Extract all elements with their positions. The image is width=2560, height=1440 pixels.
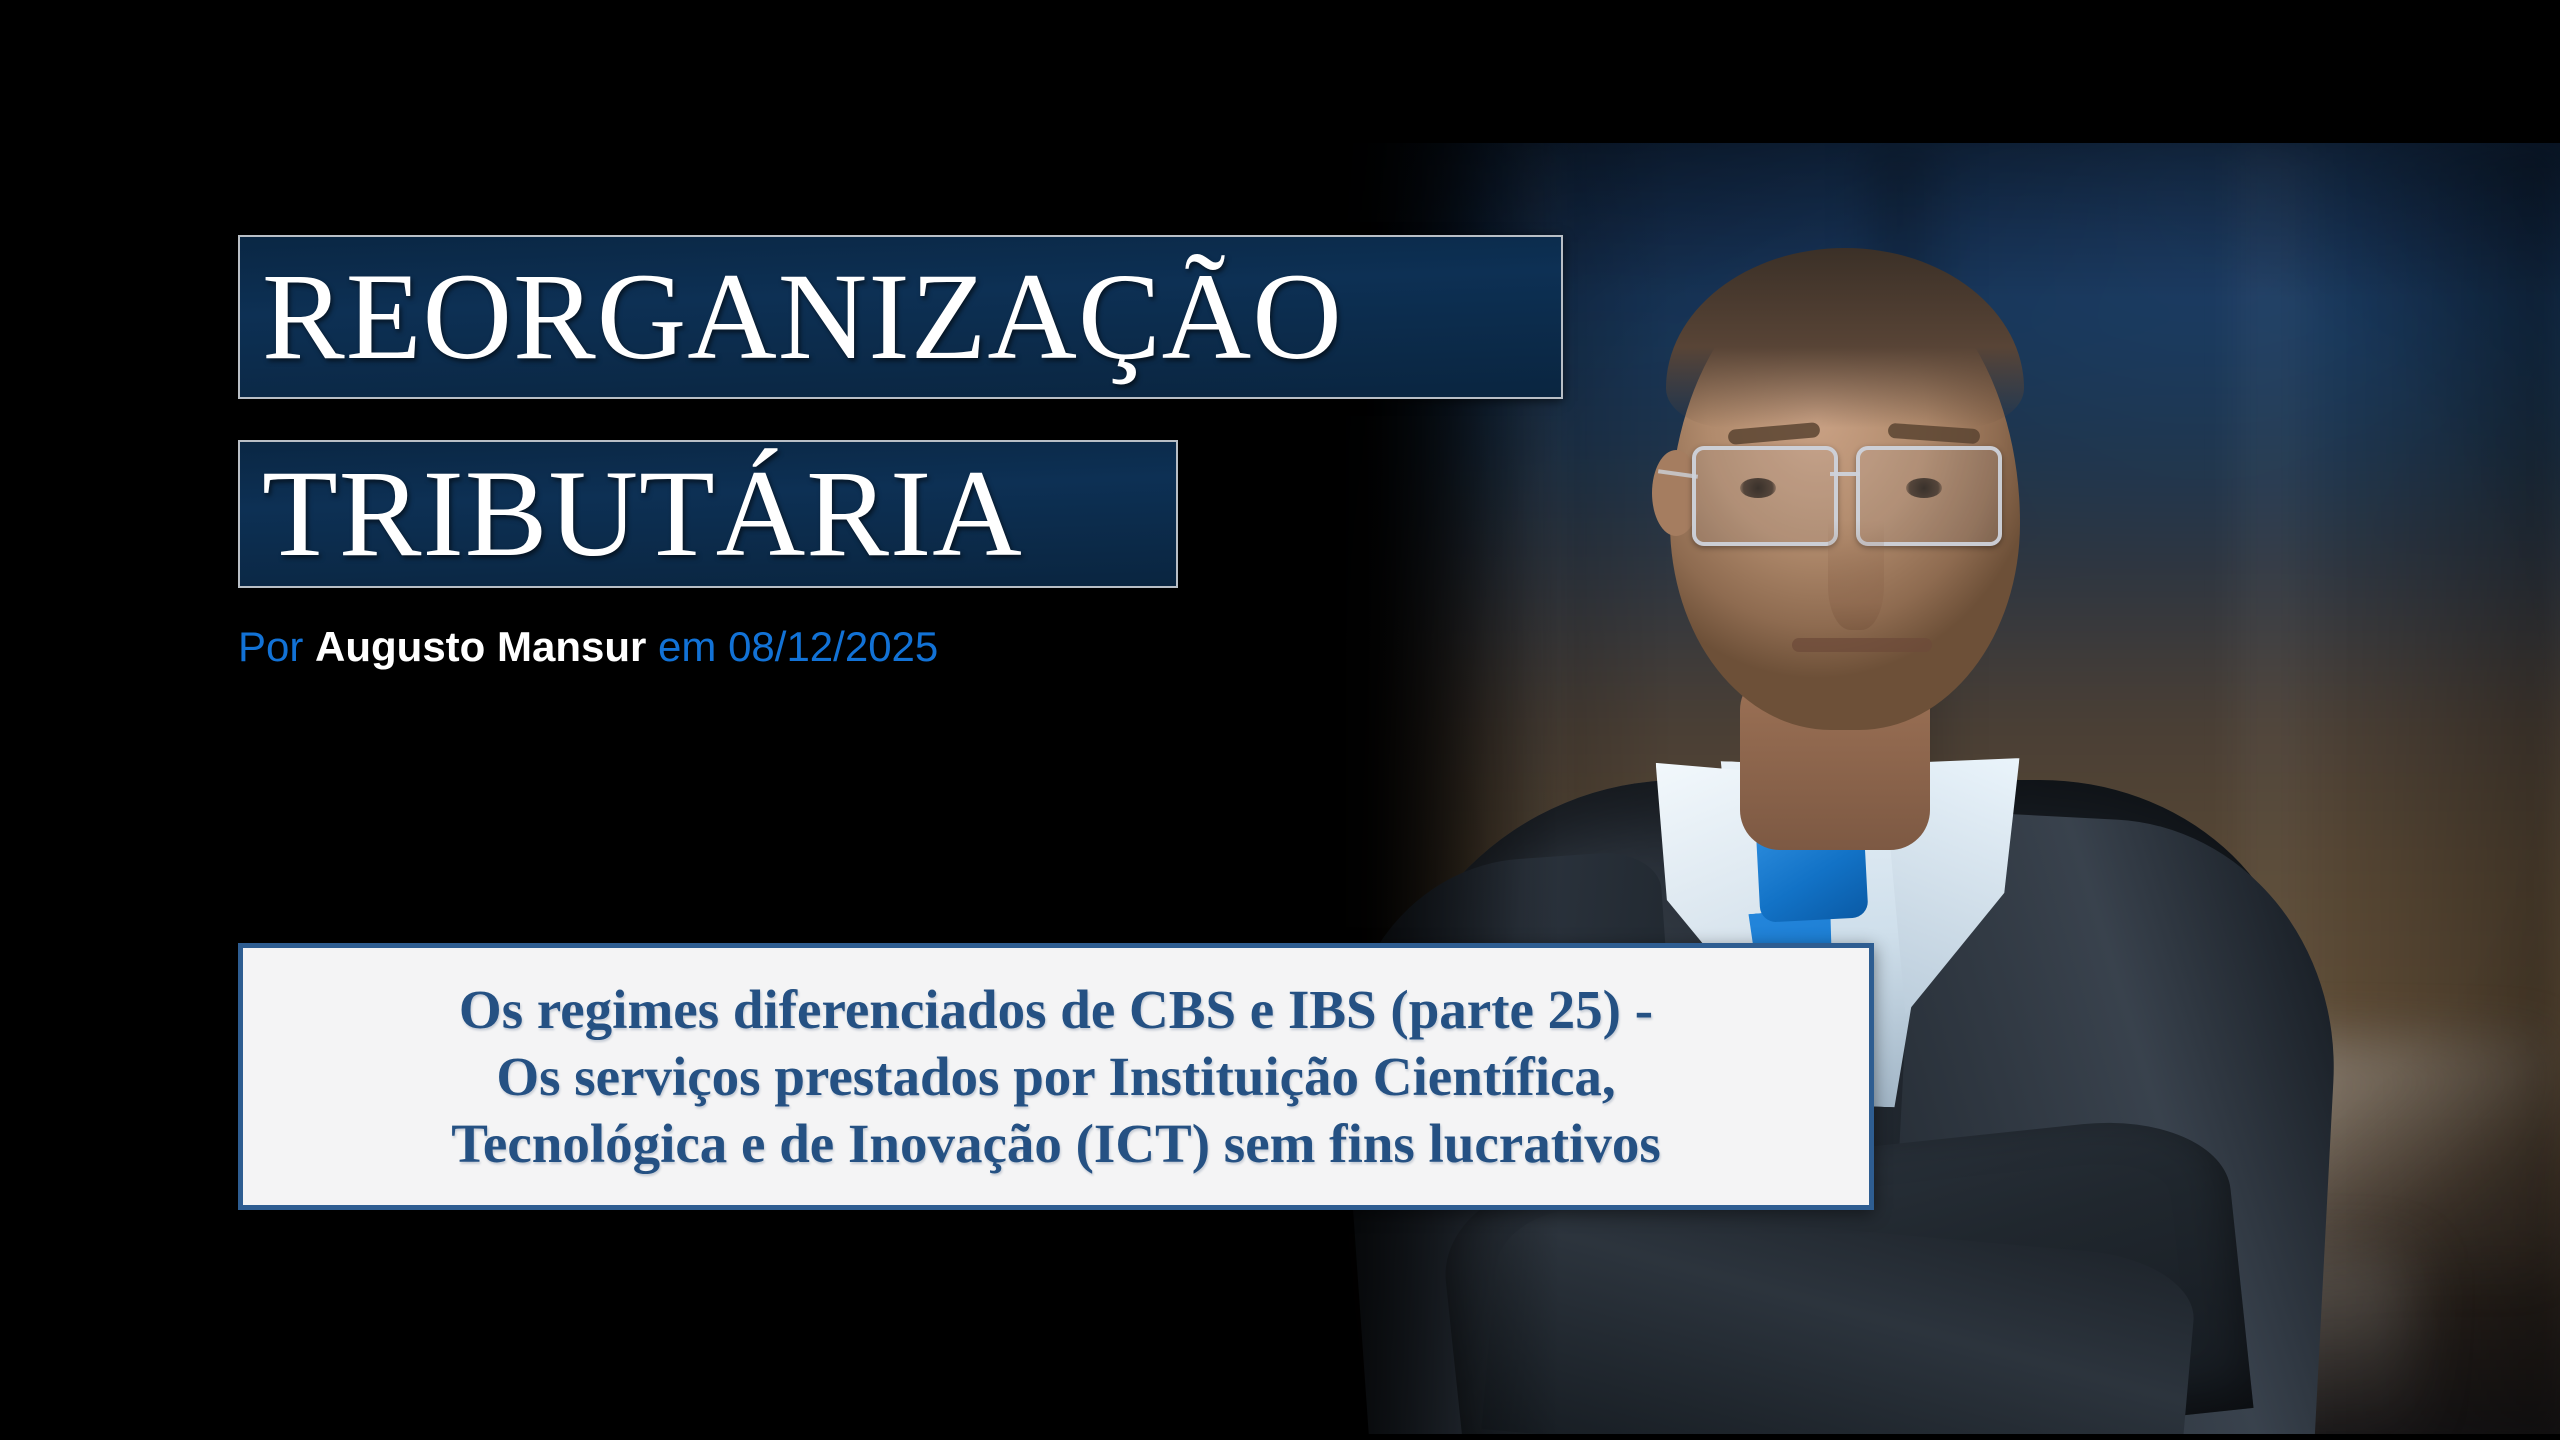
- headline-band-primary: REORGANIZAÇÃO: [238, 235, 1563, 399]
- headline-text-line-1: REORGANIZAÇÃO: [262, 255, 1343, 379]
- eyeglasses-lens-left: [1692, 446, 1838, 546]
- hair: [1666, 248, 2024, 428]
- mouth: [1792, 638, 1932, 652]
- letterbox-bar-top: [0, 0, 2560, 143]
- subtitle-line: Tecnológica e de Inovação (ICT) sem fins…: [451, 1110, 1660, 1177]
- byline: Por Augusto Mansur em 08/12/2025: [238, 623, 938, 671]
- letterbox-bar-bottom: [0, 1434, 2560, 1440]
- byline-author-name: Augusto Mansur: [315, 623, 646, 670]
- subtitle-line: Os regimes diferenciados de CBS e IBS (p…: [459, 976, 1653, 1043]
- article-subtitle-box: Os regimes diferenciados de CBS e IBS (p…: [238, 943, 1874, 1210]
- byline-prefix: Por: [238, 623, 303, 670]
- portrait-subject: [1340, 220, 2350, 1440]
- nose: [1828, 520, 1884, 630]
- headline-text-line-2: TRIBUTÁRIA: [262, 452, 1023, 576]
- headline-band-secondary: TRIBUTÁRIA: [238, 440, 1178, 588]
- eyeglasses-bridge: [1830, 472, 1860, 476]
- byline-date: 08/12/2025: [728, 623, 938, 670]
- byline-date-prefix: em: [658, 623, 716, 670]
- banner-canvas: REORGANIZAÇÃO TRIBUTÁRIA Por Augusto Man…: [0, 0, 2560, 1440]
- subtitle-line: Os serviços prestados por Instituição Ci…: [496, 1043, 1615, 1110]
